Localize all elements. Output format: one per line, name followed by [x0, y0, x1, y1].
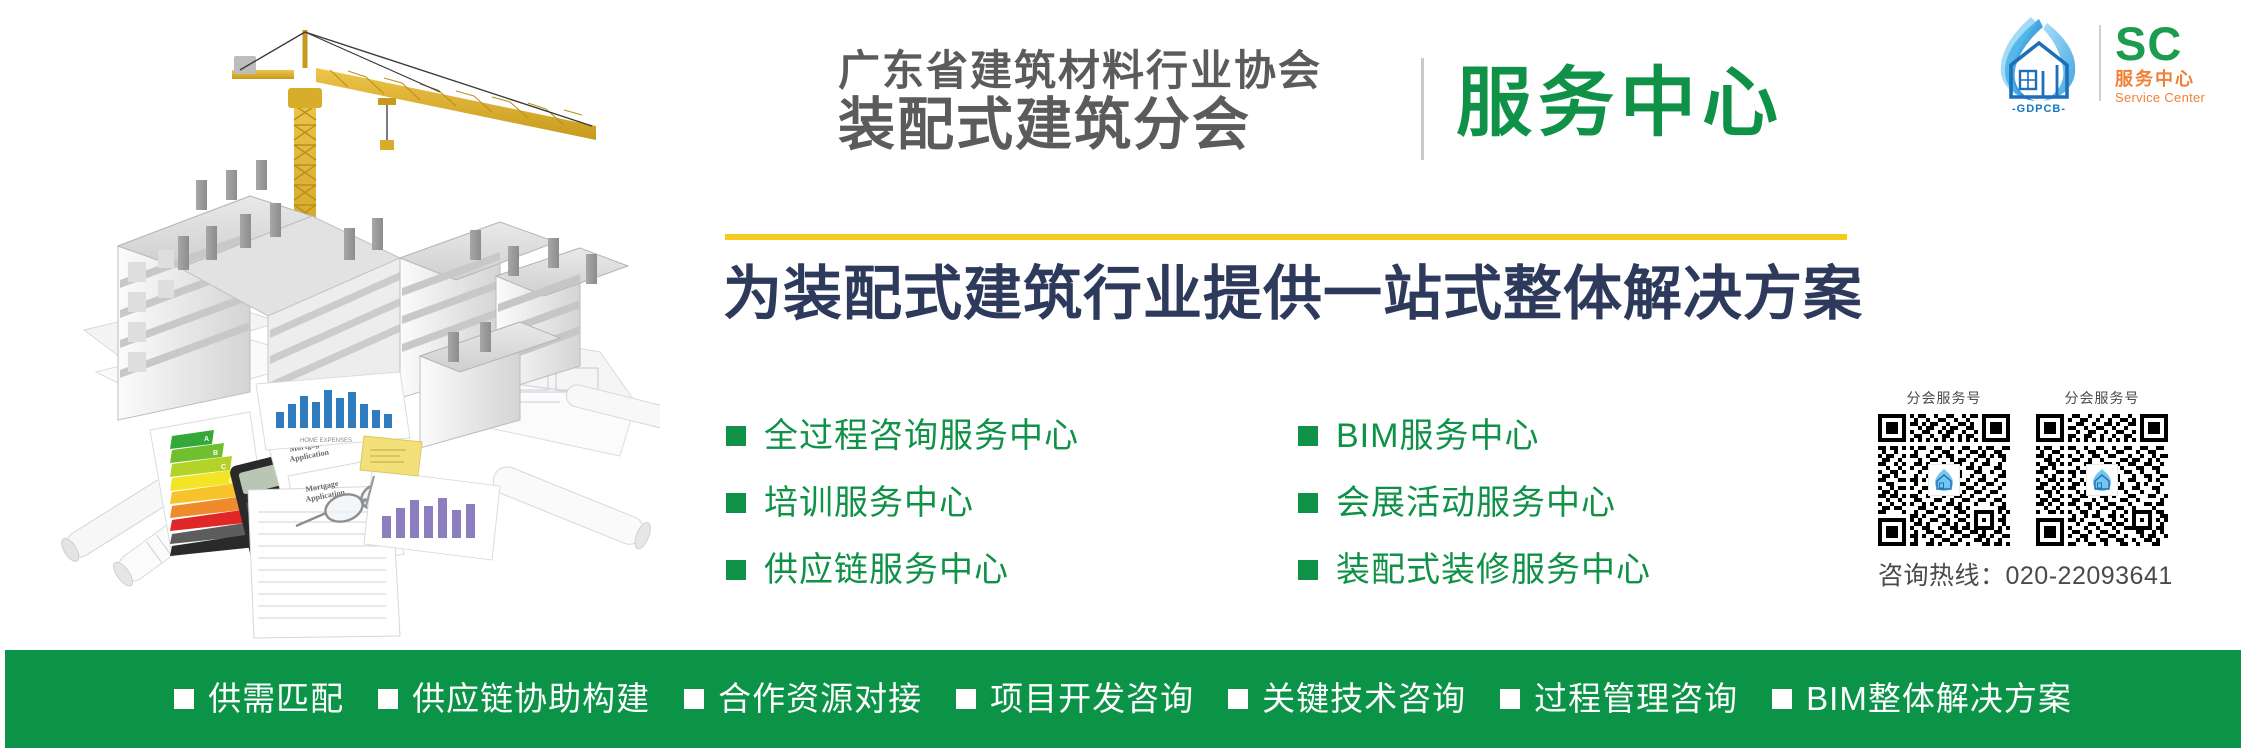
square-bullet-icon: [726, 426, 746, 446]
service-item[interactable]: 供应链服务中心: [726, 544, 1079, 596]
service-tag[interactable]: 项目开发咨询: [956, 680, 1194, 718]
gdpcb-service-center-logo: -GDPCB- SC 服务中心 Service Center: [1985, 12, 2235, 114]
service-tag-label: 关键技术咨询: [1262, 680, 1466, 718]
qr-code-image[interactable]: [2036, 414, 2168, 546]
logo-sc-abbrev: SC: [2115, 22, 2182, 66]
service-list-left: 全过程咨询服务中心 培训服务中心 供应链服务中心: [726, 410, 1079, 611]
square-bullet-icon: [174, 689, 194, 709]
qr-caption: 分会服务号: [1878, 388, 2010, 408]
service-tag-label: 合作资源对接: [718, 680, 922, 718]
service-tag[interactable]: 供需匹配: [174, 680, 344, 718]
gdpcb-wordmark: -GDPCB-: [1985, 103, 2093, 115]
qr-center-logo-icon: [2086, 464, 2118, 496]
square-bullet-icon: [1298, 560, 1318, 580]
qr-contact-block: 分会服务号: [1878, 388, 2228, 592]
qr-code-row: 分会服务号: [1878, 388, 2228, 546]
house-flame-icon: -GDPCB-: [1985, 13, 2093, 113]
service-item[interactable]: 全过程咨询服务中心: [726, 410, 1079, 462]
service-item[interactable]: 装配式装修服务中心: [1298, 544, 1651, 596]
main-slogan: 为装配式建筑行业提供一站式整体解决方案: [723, 256, 1863, 332]
construction-site-illustration: AB CD EF GH: [0, 0, 660, 650]
service-item-label: 培训服务中心: [764, 483, 974, 523]
promotional-banner: AB CD EF GH: [0, 0, 2246, 752]
service-list-right: BIM服务中心 会展活动服务中心 装配式装修服务中心: [1298, 410, 1651, 611]
service-tag[interactable]: 过程管理咨询: [1500, 680, 1738, 718]
service-tag-label: 供需匹配: [208, 680, 344, 718]
yellow-divider-rule: [725, 234, 1847, 240]
service-item-label: 供应链服务中心: [764, 550, 1009, 590]
service-center-heading: 服务中心: [1456, 54, 1784, 154]
service-tag[interactable]: 关键技术咨询: [1228, 680, 1466, 718]
square-bullet-icon: [1500, 689, 1520, 709]
association-name-line1: 广东省建筑材料行业协会: [838, 48, 1398, 94]
service-tag-label: BIM整体解决方案: [1806, 680, 2072, 718]
association-name-line2: 装配式建筑分会: [838, 94, 1398, 156]
svg-text:A: A: [204, 436, 209, 443]
qr-card[interactable]: 分会服务号: [1878, 388, 2010, 546]
svg-text:C: C: [221, 464, 226, 471]
service-tag[interactable]: 供应链协助构建: [378, 680, 650, 718]
service-item-label: 会展活动服务中心: [1336, 483, 1616, 523]
qr-caption: 分会服务号: [2036, 388, 2168, 408]
square-bullet-icon: [1298, 426, 1318, 446]
service-item[interactable]: 培训服务中心: [726, 477, 1079, 529]
qr-center-logo-icon: [1928, 464, 1960, 496]
logo-english-label: Service Center: [2115, 90, 2205, 105]
service-item-label: 全过程咨询服务中心: [764, 416, 1079, 456]
square-bullet-icon: [1772, 689, 1792, 709]
service-tag-label: 项目开发咨询: [990, 680, 1194, 718]
association-title: 广东省建筑材料行业协会 装配式建筑分会: [838, 48, 1398, 156]
service-tags-bar: 供需匹配 供应链协助构建 合作资源对接 项目开发咨询 关键技术咨询 过程管理咨询…: [5, 650, 2241, 748]
square-bullet-icon: [956, 689, 976, 709]
service-item-label: BIM服务中心: [1336, 416, 1539, 456]
square-bullet-icon: [726, 560, 746, 580]
service-tag-label: 过程管理咨询: [1534, 680, 1738, 718]
qr-card[interactable]: 分会服务号: [2036, 388, 2168, 546]
qr-code-image[interactable]: [1878, 414, 2010, 546]
svg-text:B: B: [213, 450, 218, 457]
square-bullet-icon: [1298, 493, 1318, 513]
square-bullet-icon: [1228, 689, 1248, 709]
service-tag[interactable]: 合作资源对接: [684, 680, 922, 718]
service-item-label: 装配式装修服务中心: [1336, 550, 1651, 590]
service-tag-label: 供应链协助构建: [412, 680, 650, 718]
header-divider: [1421, 58, 1424, 160]
service-item[interactable]: BIM服务中心: [1298, 410, 1651, 462]
svg-text:HOME EXPENSES: HOME EXPENSES: [300, 438, 352, 444]
square-bullet-icon: [378, 689, 398, 709]
service-item[interactable]: 会展活动服务中心: [1298, 477, 1651, 529]
logo-text-block: SC 服务中心 Service Center: [2115, 22, 2205, 105]
square-bullet-icon: [684, 689, 704, 709]
service-tag[interactable]: BIM整体解决方案: [1772, 680, 2072, 718]
square-bullet-icon: [726, 493, 746, 513]
logo-chinese-label: 服务中心: [2115, 68, 2195, 90]
hotline-text: 咨询热线：020-22093641: [1878, 556, 2228, 592]
logo-separator: [2099, 25, 2101, 101]
